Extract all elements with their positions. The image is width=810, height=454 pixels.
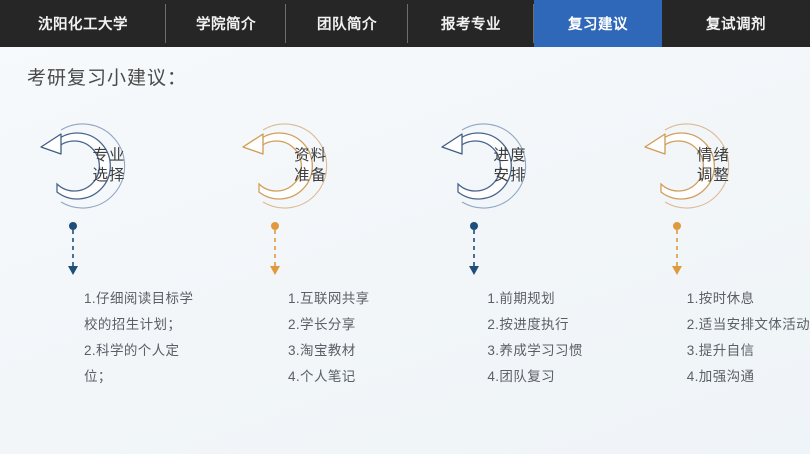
list-item: 4.加强沟通 [687,364,810,390]
list-item: 1.互联网共享 [288,286,403,312]
connector-dot [673,222,681,230]
connector-dot [470,222,478,230]
list-item: 3.淘宝教材 [288,338,403,364]
page-title: 考研复习小建议： [27,63,187,90]
nav-tab-review-advice[interactable]: 复习建议 [534,0,662,47]
list-item: 2.按进度执行 [487,312,602,338]
dashed-connector [219,222,389,284]
list-item: 3.提升自信 [687,338,810,364]
list-item: 1.仔细阅读目标学校的招生计划； [84,286,204,338]
dashed-connector [17,222,187,284]
dashed-connector [621,222,791,284]
connector-arrow-icon [469,266,479,275]
list-item: 2.适当安排文体活动 [687,312,810,338]
circular-arrow-icon-wrap: 资料 准备 [219,110,389,222]
list-item: 1.前期规划 [487,286,602,312]
bullet-list: 1.互联网共享 2.学长分享 3.淘宝教材 4.个人笔记 [204,286,403,390]
nav-tab-team-intro[interactable]: 团队简介 [286,0,408,47]
bullet-list: 1.仔细阅读目标学校的招生计划； 2.科学的个人定位； [0,286,204,390]
bullet-list: 1.前期规划 2.按进度执行 3.养成学习习惯 4.团队复习 [403,286,602,390]
nav-tab-label: 复习建议 [568,13,628,34]
circular-arrow-icon [621,110,791,222]
nav-tab-label: 复试调剂 [706,13,766,34]
advice-column-material-prep: 资料 准备 1.互联网共享 2.学长分享 3.淘宝教材 4.个人笔记 [204,110,403,410]
nav-tab-label: 报考专业 [441,13,501,34]
list-item: 2.科学的个人定位； [84,338,204,390]
circular-arrow-icon-wrap: 情绪 调整 [621,110,791,222]
circular-arrow-icon-wrap: 进度 安排 [418,110,588,222]
circular-arrow-icon-wrap: 专业 选择 [17,110,187,222]
advice-column-major-selection: 专业 选择 1.仔细阅读目标学校的招生计划； 2.科学的个人定位； [0,110,204,410]
list-item: 3.养成学习习惯 [487,338,602,364]
connector-dot [69,222,77,230]
dashed-connector [418,222,588,284]
connector-arrow-icon [672,266,682,275]
nav-tab-label: 团队简介 [317,13,377,34]
advice-columns: 专业 选择 1.仔细阅读目标学校的招生计划； 2.科学的个人定位； [0,110,810,410]
connector-arrow-icon [68,266,78,275]
circular-arrow-icon [17,110,187,222]
nav-tab-majors[interactable]: 报考专业 [408,0,534,47]
nav-tab-college-intro[interactable]: 学院简介 [166,0,286,47]
nav-tab-interview-transfer[interactable]: 复试调剂 [662,0,810,47]
list-item: 1.按时休息 [687,286,810,312]
list-item: 2.学长分享 [288,312,403,338]
bullet-list: 1.按时休息 2.适当安排文体活动 3.提升自信 4.加强沟通 [603,286,810,390]
slide-root: 沈阳化工大学 学院简介 团队简介 报考专业 复习建议 复试调剂 考研复习小建议： [0,0,810,454]
nav-tab-university[interactable]: 沈阳化工大学 [0,0,166,47]
connector-arrow-icon [270,266,280,275]
top-navigation-bar: 沈阳化工大学 学院简介 团队简介 报考专业 复习建议 复试调剂 [0,0,810,47]
circular-arrow-icon [219,110,389,222]
connector-dot [271,222,279,230]
advice-column-emotion: 情绪 调整 1.按时休息 2.适当安排文体活动 3.提升自信 4.加强沟通 [603,110,810,410]
nav-tab-label: 沈阳化工大学 [38,13,128,34]
nav-tab-label: 学院简介 [196,13,256,34]
circular-arrow-icon [418,110,588,222]
list-item: 4.团队复习 [487,364,602,390]
advice-column-schedule: 进度 安排 1.前期规划 2.按进度执行 3.养成学习习惯 4.团队复习 [403,110,602,410]
list-item: 4.个人笔记 [288,364,403,390]
